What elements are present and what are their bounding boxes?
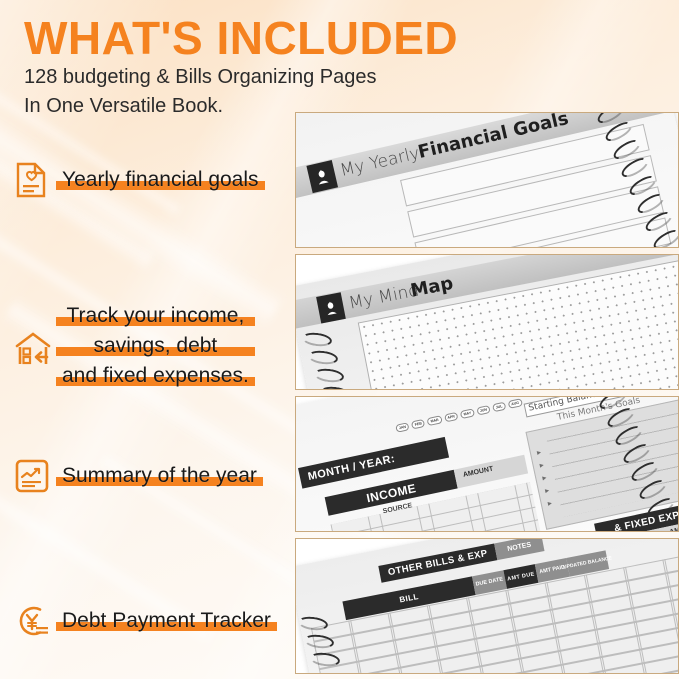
header: WHAT'S INCLUDED 128 budgeting & Bills Or… — [24, 14, 584, 119]
feature-text-debt-tracker: Debt Payment Tracker — [62, 609, 271, 633]
document-heart-icon — [14, 162, 54, 198]
feature-text-track-income: Track your income, savings, debt and fix… — [62, 304, 249, 394]
month-tab[interactable]: MAY — [460, 408, 475, 419]
feature-item-yearly-goals: Yearly financial goals — [0, 162, 300, 198]
brand-logo-badge — [316, 292, 346, 323]
feature-label-line-2: savings, debt — [94, 334, 218, 357]
month-tab[interactable]: APR — [444, 412, 459, 423]
product-photo-monthly-budget: JAN FEB MAR APR MAY JUN JUL AUG MONTH / … — [295, 396, 679, 532]
coin-currency-icon — [14, 602, 54, 640]
product-photo-yearly-goals: My Yearly Financial Goals — [295, 112, 679, 248]
notebook-page: My Mind Map — [295, 254, 679, 390]
feature-item-debt-tracker: Debt Payment Tracker — [0, 602, 300, 640]
feature-text-summary-year: Summary of the year — [62, 464, 257, 488]
house-income-icon — [14, 330, 54, 368]
feature-label-line-1: Track your income, — [67, 304, 245, 327]
feature-label-line-3: and fixed expenses. — [62, 364, 249, 387]
feature-item-summary-year: Summary of the year — [0, 458, 300, 494]
feature-label: Summary of the year — [62, 464, 257, 487]
product-photo-other-bills: OTHER BILLS & EXP NOTES BILL DUE DATE AM… — [295, 538, 679, 674]
product-photo-mind-map: My Mind Map — [295, 254, 679, 390]
month-tab[interactable]: JUL — [492, 402, 506, 412]
feature-text-yearly-goals: Yearly financial goals — [62, 168, 259, 192]
notebook-page: OTHER BILLS & EXP NOTES BILL DUE DATE AM… — [295, 538, 679, 674]
month-tab[interactable]: FEB — [411, 419, 426, 430]
month-tab[interactable]: JUN — [476, 405, 491, 416]
feature-item-track-income: Track your income, savings, debt and fix… — [0, 304, 300, 394]
feature-label: Yearly financial goals — [62, 168, 259, 191]
chart-summary-icon — [14, 458, 54, 494]
column-header-notes: NOTES — [494, 538, 544, 560]
month-tab[interactable]: JAN — [395, 422, 410, 433]
month-tab[interactable]: MAR — [427, 415, 443, 426]
feature-label: Debt Payment Tracker — [62, 609, 271, 632]
subtitle-line-1: 128 budgeting & Bills Organizing Pages — [24, 65, 584, 91]
page-title: WHAT'S INCLUDED — [24, 14, 584, 62]
month-tabs[interactable]: JAN FEB MAR APR MAY JUN JUL AUG — [395, 398, 523, 433]
month-tab[interactable]: AUG — [507, 398, 522, 409]
feature-list: Yearly financial goals Track your income… — [0, 140, 300, 340]
